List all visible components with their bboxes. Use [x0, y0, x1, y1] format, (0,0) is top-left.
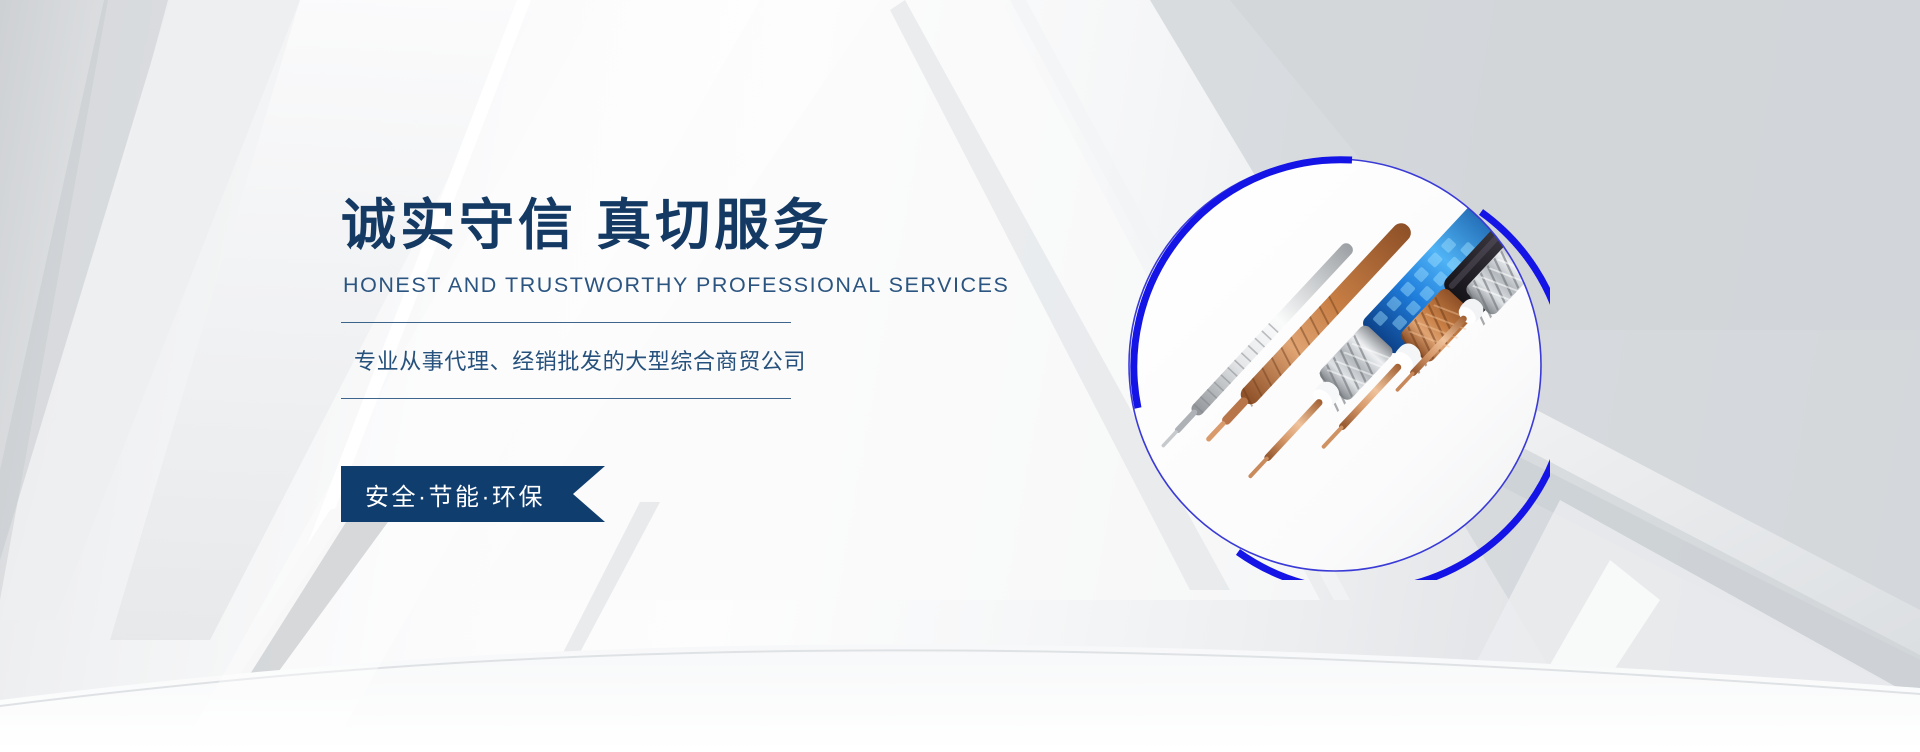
tagline-chinese: 专业从事代理、经销批发的大型综合商贸公司 [354, 344, 901, 376]
promo-banner: 诚实守信 真切服务 HONEST AND TRUSTWORTHY PROFESS… [0, 0, 1920, 752]
subtitle-english: HONEST AND TRUSTWORTHY PROFESSIONAL SERV… [343, 273, 901, 298]
ring-arc-upper-left [1134, 160, 1352, 408]
ribbon-shape [341, 466, 605, 522]
page-title: 诚实守信 真切服务 [341, 196, 901, 255]
divider-bottom [341, 398, 791, 399]
product-medallion [1120, 150, 1550, 580]
status-badge: 安全·节能·环保 [341, 466, 605, 522]
headline-group: 诚实守信 真切服务 HONEST AND TRUSTWORTHY PROFESS… [341, 196, 901, 399]
divider-top [341, 322, 791, 323]
background-geometry [0, 0, 1920, 752]
ring-arc-right-bottom [1238, 212, 1550, 580]
